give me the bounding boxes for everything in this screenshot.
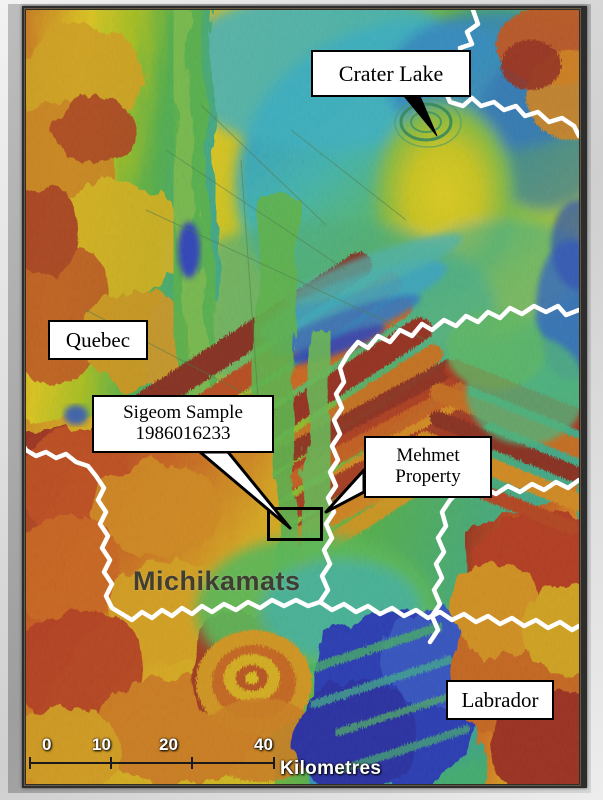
scale-tick-40: 40 xyxy=(254,735,273,755)
region-label-labrador[interactable]: Labrador xyxy=(446,680,554,720)
scale-tick-20: 20 xyxy=(159,735,178,755)
mehmet-property-outline[interactable] xyxy=(267,507,323,541)
scale-tick-10: 10 xyxy=(92,735,111,755)
callout-mehmet-property-text: Mehmet Property xyxy=(372,446,484,487)
region-label-quebec[interactable]: Quebec xyxy=(48,320,148,360)
mehmet-line-2: Property xyxy=(395,466,460,487)
sigeom-line-1: Sigeom Sample xyxy=(123,402,243,423)
callout-sigeom-sample-text: Sigeom Sample 1986016233 xyxy=(100,403,266,444)
callout-crater-lake-label: Crater Lake xyxy=(319,62,463,86)
callout-sigeom-sample[interactable]: Sigeom Sample 1986016233 xyxy=(92,395,274,453)
mehmet-line-1: Mehmet xyxy=(396,445,459,466)
map-page: Crater Lake Sigeom Sample 1986016233 Meh… xyxy=(0,0,603,800)
region-label-quebec-text: Quebec xyxy=(56,329,140,352)
callout-mehmet-property[interactable]: Mehmet Property xyxy=(364,436,492,498)
scale-unit-label: Kilometres xyxy=(280,758,381,780)
callout-crater-lake[interactable]: Crater Lake xyxy=(311,50,471,97)
scale-bar: 0 10 20 40 Kilometres xyxy=(28,735,428,781)
region-label-labrador-text: Labrador xyxy=(454,689,546,712)
scale-tick-0: 0 xyxy=(42,735,51,755)
lake-label-michikamats: Michikamats xyxy=(133,566,301,597)
sigeom-line-2: 1986016233 xyxy=(136,423,231,444)
scale-bar-ruler xyxy=(28,753,288,771)
